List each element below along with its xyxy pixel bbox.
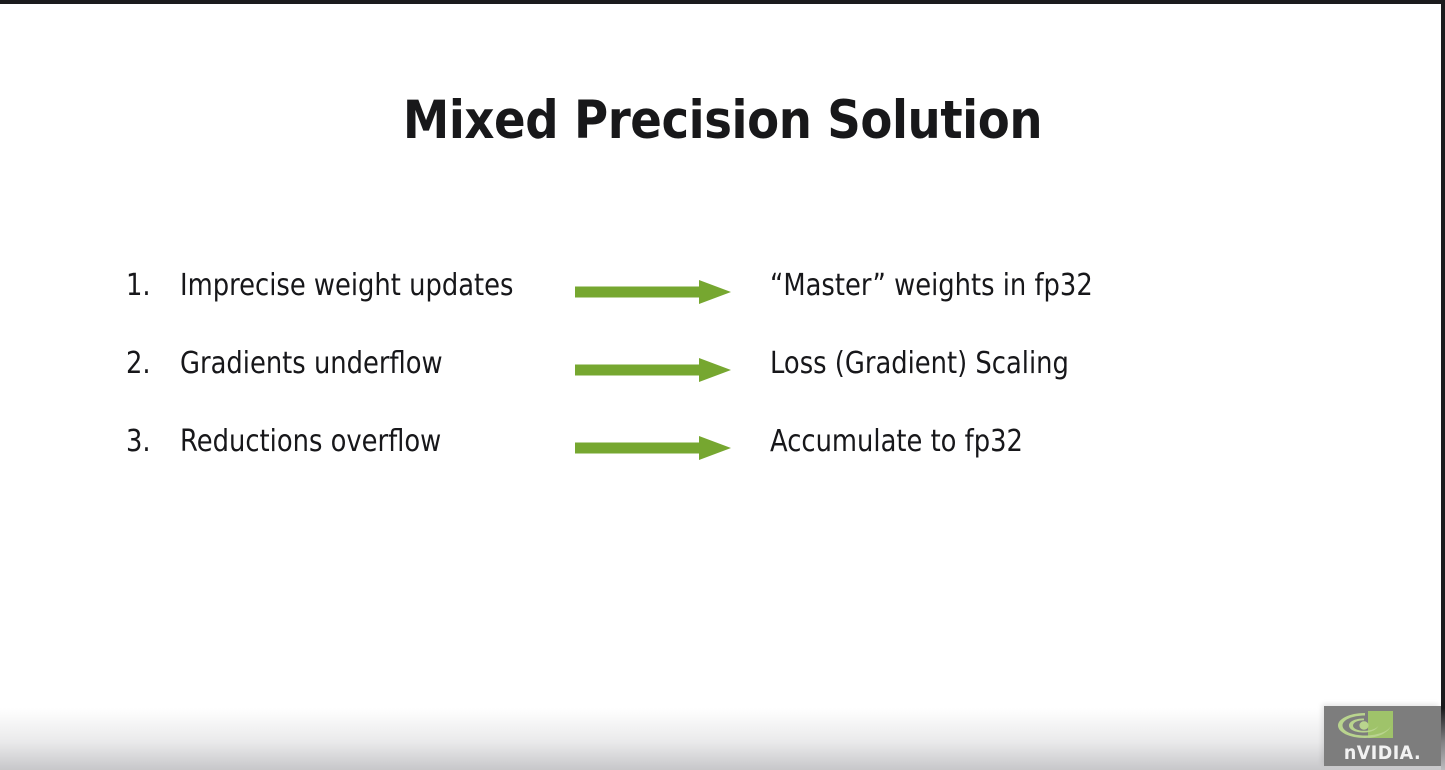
list-item-problem: Gradients underflow: [180, 346, 443, 381]
list-item-solution: “Master” weights in fp32: [770, 268, 1093, 303]
list-item-number: 3.: [126, 424, 164, 459]
list-item-number: 2.: [126, 346, 164, 381]
right-arrow-icon: [575, 280, 731, 304]
nvidia-eye-logo: [1335, 710, 1395, 741]
list-item-problem: Imprecise weight updates: [180, 268, 513, 303]
frame-top-border: [0, 0, 1445, 4]
bottom-gradient-overlay: [0, 708, 1445, 770]
list-item-solution: Accumulate to fp32: [770, 424, 1023, 459]
list-item-problem: Reductions overflow: [180, 424, 441, 459]
page-title: Mixed Precision Solution: [87, 90, 1359, 151]
list-item-number: 1.: [126, 268, 164, 303]
slide-canvas: Mixed Precision Solution 1. Imprecise we…: [0, 0, 1445, 770]
right-arrow-icon: [575, 358, 731, 382]
right-arrow-icon: [575, 436, 731, 460]
list-item: 2. Gradients underflow Loss (Gradient) S…: [126, 346, 1246, 424]
nvidia-wordmark: nVIDIA.: [1329, 742, 1437, 764]
list-item-solution: Loss (Gradient) Scaling: [770, 346, 1069, 381]
list-item: 3. Reductions overflow Accumulate to fp3…: [126, 424, 1246, 502]
mixed-precision-bullet-list: 1. Imprecise weight updates “Master” wei…: [126, 268, 1246, 502]
list-item: 1. Imprecise weight updates “Master” wei…: [126, 268, 1246, 346]
frame-right-border: [1441, 0, 1445, 770]
nvidia-watermark: nVIDIA.: [1324, 706, 1441, 766]
